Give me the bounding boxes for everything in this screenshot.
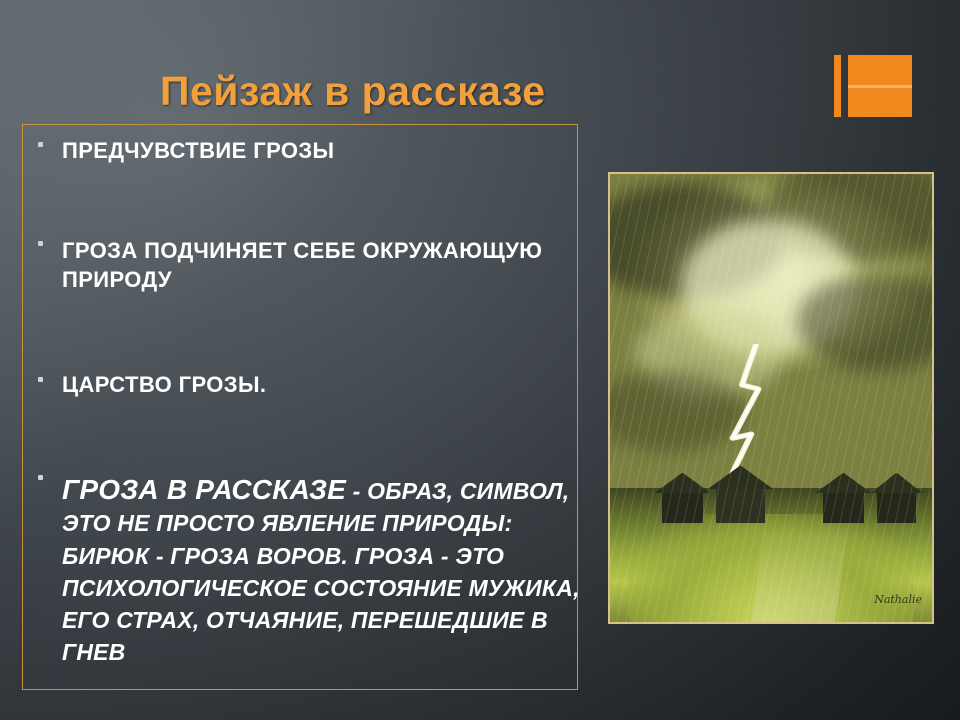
bullet-lead-text: ГРОЗА В РАССКАЗЕ — [62, 474, 346, 505]
rain-overlay — [610, 174, 932, 622]
bullet-dot-icon — [38, 475, 43, 480]
list-item: ПРЕДЧУВСТВИЕ ГРОЗЫ — [30, 138, 582, 164]
page-title: Пейзаж в рассказе — [160, 68, 546, 115]
decoration-bar — [834, 55, 841, 117]
bullet-text: ПРЕДЧУВСТВИЕ ГРОЗЫ — [62, 138, 335, 163]
illustration-canvas: Nathalie — [610, 174, 932, 622]
bullet-list: ПРЕДЧУВСТВИЕ ГРОЗЫ ГРОЗА ПОДЧИНЯЕТ СЕБЕ … — [30, 130, 582, 669]
artist-signature: Nathalie — [874, 593, 922, 606]
list-item: ГРОЗА В РАССКАЗЕ - ОБРАЗ, СИМВОЛ, ЭТО НЕ… — [30, 471, 582, 669]
decoration-notch — [848, 85, 912, 88]
bullet-text: ЦАРСТВО ГРОЗЫ. — [62, 372, 266, 397]
bullet-dot-icon — [38, 241, 43, 246]
list-item: ЦАРСТВО ГРОЗЫ. — [30, 372, 582, 398]
bullet-dot-icon — [38, 377, 43, 382]
bullet-rest-text: - ОБРАЗ, СИМВОЛ, ЭТО НЕ ПРОСТО ЯВЛЕНИЕ П… — [62, 478, 580, 665]
slide: Пейзаж в рассказе ПРЕДЧУВСТВИЕ ГРОЗЫ ГРО… — [0, 0, 960, 720]
orange-decoration — [834, 55, 912, 117]
list-item: ГРОЗА ПОДЧИНЯЕТ СЕБЕ ОКРУЖАЮЩУЮ ПРИРОДУ — [30, 236, 582, 294]
bullet-dot-icon — [38, 142, 43, 147]
bullet-text: ГРОЗА В РАССКАЗЕ - ОБРАЗ, СИМВОЛ, ЭТО НЕ… — [62, 478, 580, 666]
storm-illustration: Nathalie — [608, 172, 934, 624]
bullet-text: ГРОЗА ПОДЧИНЯЕТ СЕБЕ ОКРУЖАЮЩУЮ ПРИРОДУ — [62, 238, 542, 292]
